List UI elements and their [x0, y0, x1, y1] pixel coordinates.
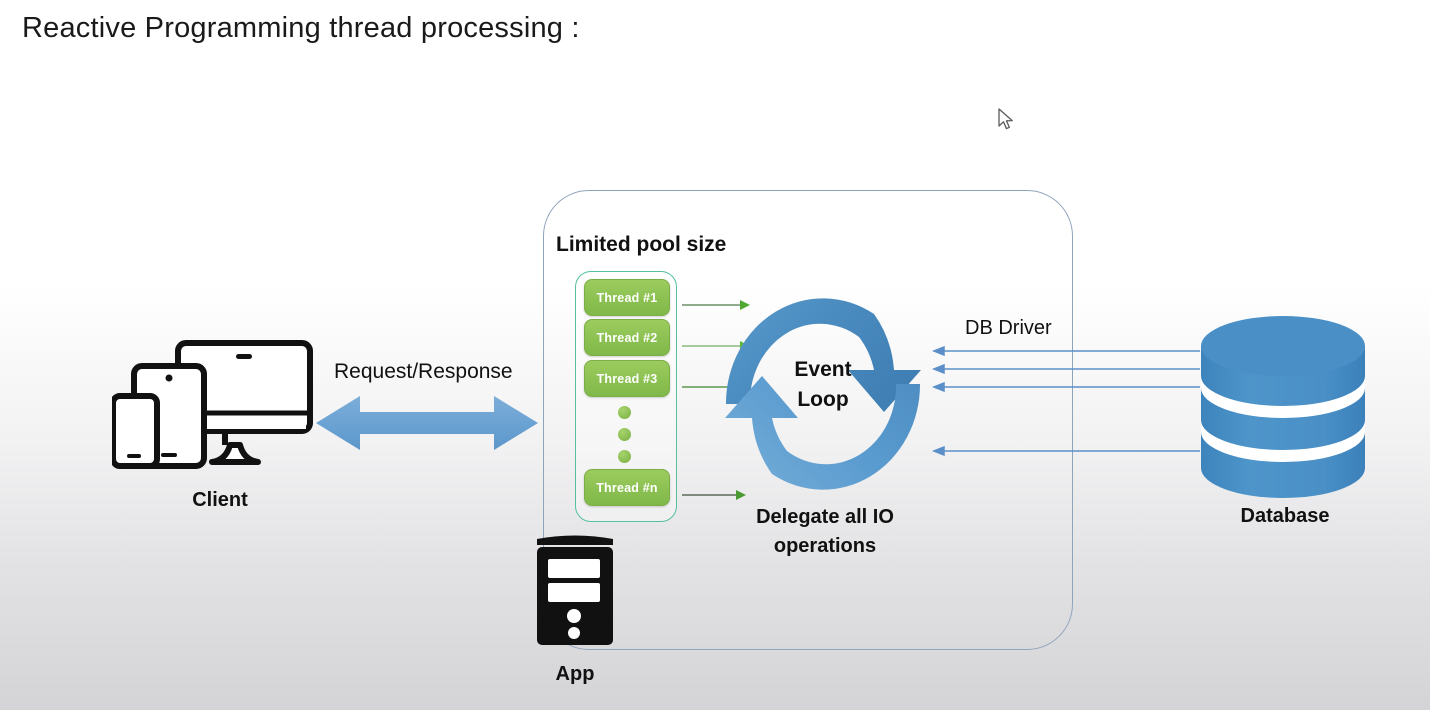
slide-canvas: Reactive Programming thread processing :… — [0, 0, 1430, 710]
pool-ellipsis-dot — [618, 428, 631, 441]
mouse-pointer-icon — [997, 108, 1017, 132]
delegate-io-label: Delegate all IO operations — [700, 503, 950, 561]
pool-ellipsis-dot — [618, 406, 631, 419]
event-loop-label-line2: Loop — [718, 385, 928, 415]
limited-pool-size-label: Limited pool size — [556, 233, 726, 257]
pool-ellipsis-dot — [618, 450, 631, 463]
thread-box-3[interactable]: Thread #3 — [584, 360, 670, 397]
double-headed-arrow-icon — [316, 392, 538, 454]
database-cylinder-icon — [1196, 316, 1371, 501]
app-server-tower-icon — [531, 529, 619, 649]
db-driver-connection-arrows — [920, 335, 1200, 465]
request-response-label: Request/Response — [334, 360, 513, 384]
event-loop-label: Event Loop — [718, 355, 928, 416]
thread-box-1[interactable]: Thread #1 — [584, 279, 670, 316]
thread-box-2[interactable]: Thread #2 — [584, 319, 670, 356]
page-title: Reactive Programming thread processing : — [22, 12, 580, 45]
event-loop-label-line1: Event — [718, 355, 928, 385]
thread-pool-container: Thread #1 Thread #2 Thread #3 Thread #n — [575, 271, 677, 522]
client-label: Client — [140, 489, 300, 512]
database-label: Database — [1190, 505, 1380, 528]
thread-box-n[interactable]: Thread #n — [584, 469, 670, 506]
client-devices-icon — [112, 340, 332, 485]
delegate-io-line1: Delegate all IO — [700, 503, 950, 532]
delegate-io-line2: operations — [700, 532, 950, 561]
app-label: App — [520, 663, 630, 686]
